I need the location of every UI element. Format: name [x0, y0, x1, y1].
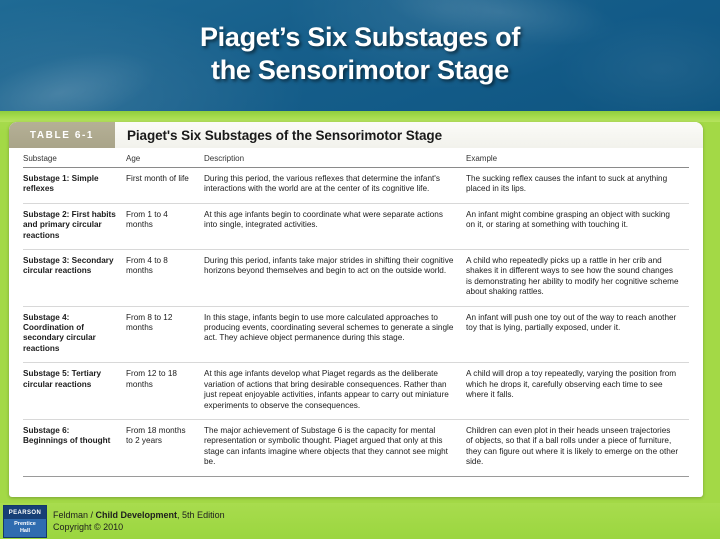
page-title: Piaget’s Six Substages of the Sensorimot… — [0, 21, 720, 87]
cell-description: At this age infants begin to coordinate … — [204, 203, 466, 249]
cell-description: The major achievement of Substage 6 is t… — [204, 419, 466, 476]
cell-description: At this age infants develop what Piaget … — [204, 363, 466, 420]
table-caption: Piaget's Six Substages of the Sensorimot… — [127, 122, 442, 148]
cell-age: From 1 to 4 months — [126, 203, 204, 249]
prentice-hall-line-1: Prentice — [14, 521, 36, 528]
cell-example: An infant might combine grasping an obje… — [466, 203, 689, 249]
cell-substage: Substage 2: First habits and primary cir… — [23, 203, 126, 249]
cell-substage: Substage 3: Secondary circular reactions — [23, 250, 126, 307]
table-row: Substage 3: Secondary circular reactions… — [23, 250, 689, 307]
cell-age: From 12 to 18 months — [126, 363, 204, 420]
title-banner: Piaget’s Six Substages of the Sensorimot… — [0, 0, 720, 111]
pearson-prentice-hall-logo: PEARSON Prentice Hall — [3, 505, 47, 538]
cell-example: An infant will push one toy out of the w… — [466, 306, 689, 363]
column-header-substage: Substage — [23, 148, 126, 168]
column-header-example: Example — [466, 148, 689, 168]
footer-credit-line: Feldman / Child Development, 5th Edition — [53, 510, 225, 520]
table-header-row: Substage Age Description Example — [23, 148, 689, 168]
prentice-hall-line-2: Hall — [20, 528, 30, 535]
cell-substage: Substage 1: Simple reflexes — [23, 168, 126, 204]
table-row: Substage 2: First habits and primary cir… — [23, 203, 689, 249]
cell-age: From 8 to 12 months — [126, 306, 204, 363]
cell-example: Children can even plot in their heads un… — [466, 419, 689, 476]
table-number-badge: TABLE 6-1 — [9, 122, 115, 148]
table-body-wrap: Substage Age Description Example Substag… — [9, 148, 703, 477]
cell-example: A child who repeatedly picks up a rattle… — [466, 250, 689, 307]
credit-book-title: Child Development — [96, 510, 178, 520]
cell-substage: Substage 4: Coordination of secondary ci… — [23, 306, 126, 363]
table-row: Substage 6: Beginnings of thought From 1… — [23, 419, 689, 476]
footer-copyright: Copyright © 2010 — [53, 521, 225, 533]
footer-credit: Feldman / Child Development, 5th Edition… — [53, 509, 225, 533]
cell-example: A child will drop a toy repeatedly, vary… — [466, 363, 689, 420]
footer-bar: PEARSON Prentice Hall Feldman / Child De… — [0, 503, 720, 539]
cell-age: First month of life — [126, 168, 204, 204]
pearson-wordmark: PEARSON — [4, 506, 46, 519]
cell-description: During this period, the various reflexes… — [204, 168, 466, 204]
cell-description: In this stage, infants begin to use more… — [204, 306, 466, 363]
page-title-line-2: the Sensorimotor Stage — [0, 54, 720, 87]
page-title-line-1: Piaget’s Six Substages of — [0, 21, 720, 54]
green-divider-strip — [0, 111, 720, 122]
cell-substage: Substage 6: Beginnings of thought — [23, 419, 126, 476]
table-row: Substage 1: Simple reflexes First month … — [23, 168, 689, 204]
table-card: TABLE 6-1 Piaget's Six Substages of the … — [9, 122, 703, 497]
cell-description: During this period, infants take major s… — [204, 250, 466, 307]
column-header-description: Description — [204, 148, 466, 168]
prentice-hall-wordmark: Prentice Hall — [4, 519, 46, 537]
table-row: Substage 4: Coordination of secondary ci… — [23, 306, 689, 363]
substages-table: Substage Age Description Example Substag… — [23, 148, 689, 477]
column-header-age: Age — [126, 148, 204, 168]
table-header-bar: TABLE 6-1 Piaget's Six Substages of the … — [9, 122, 703, 148]
table-row: Substage 5: Tertiary circular reactions … — [23, 363, 689, 420]
credit-author: Feldman / — [53, 510, 96, 520]
cell-age: From 18 months to 2 years — [126, 419, 204, 476]
cell-example: The sucking reflex causes the infant to … — [466, 168, 689, 204]
credit-edition: , 5th Edition — [177, 510, 225, 520]
slide: Piaget’s Six Substages of the Sensorimot… — [0, 0, 720, 539]
cell-age: From 4 to 8 months — [126, 250, 204, 307]
cell-substage: Substage 5: Tertiary circular reactions — [23, 363, 126, 420]
